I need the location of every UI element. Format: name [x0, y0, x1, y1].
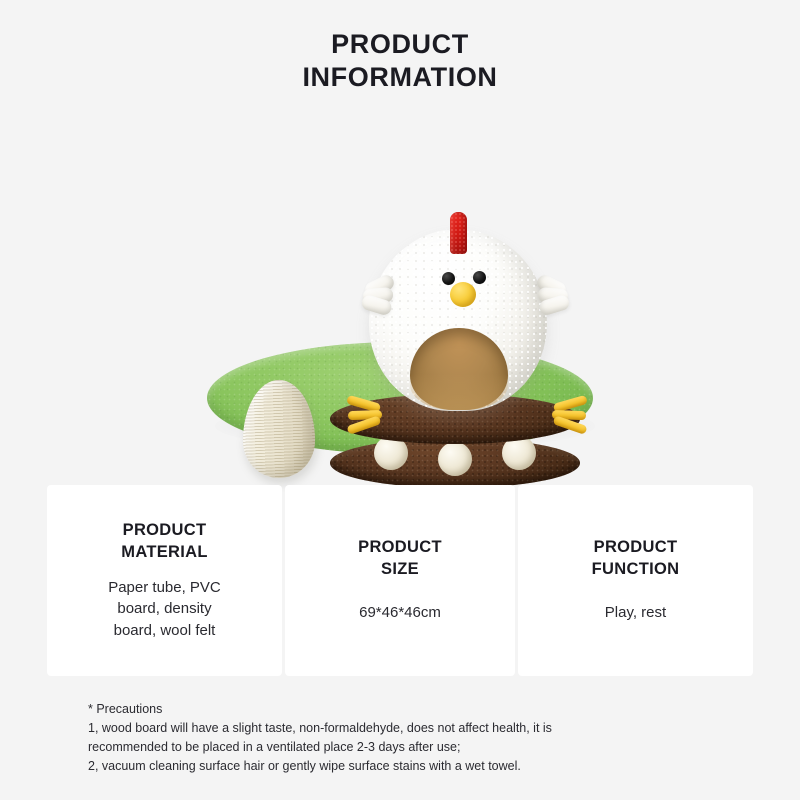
chicken-wing-left	[349, 272, 393, 324]
product-info-cards: PRODUCT MATERIAL Paper tube, PVC board, …	[47, 485, 753, 676]
card-value: Paper tube, PVC board, density board, wo…	[108, 577, 221, 641]
card-title: PRODUCT MATERIAL	[121, 520, 207, 563]
card-value: 69*46*46cm	[359, 602, 441, 623]
chicken-foot-left	[334, 402, 386, 424]
sisal-egg-scratcher	[243, 380, 315, 478]
card-product-size: PRODUCT SIZE 69*46*46cm	[285, 485, 515, 676]
precautions-item-1: 1, wood board will have a slight taste, …	[88, 719, 728, 757]
page-title-line-1: PRODUCT	[0, 28, 800, 61]
precautions-heading: * Precautions	[88, 700, 728, 719]
chicken-foot-right	[548, 402, 600, 424]
card-product-material: PRODUCT MATERIAL Paper tube, PVC board, …	[47, 485, 282, 676]
precautions-item-2: 2, vacuum cleaning surface hair or gentl…	[88, 757, 728, 776]
eye-icon	[473, 271, 486, 284]
product-image	[0, 102, 800, 462]
card-product-function: PRODUCT FUNCTION Play, rest	[518, 485, 753, 676]
card-title: PRODUCT FUNCTION	[592, 537, 680, 580]
yellow-beak-icon	[450, 282, 476, 307]
precautions-section: * Precautions 1, wood board will have a …	[88, 700, 728, 776]
chicken-wing-right	[538, 272, 582, 324]
page-title-line-2: INFORMATION	[0, 61, 800, 94]
pillar-egg	[438, 442, 472, 476]
page-title: PRODUCT INFORMATION	[0, 0, 800, 94]
eye-icon	[442, 272, 455, 285]
card-value: Play, rest	[605, 602, 666, 623]
card-title: PRODUCT SIZE	[358, 537, 442, 580]
red-comb-icon	[450, 212, 467, 254]
